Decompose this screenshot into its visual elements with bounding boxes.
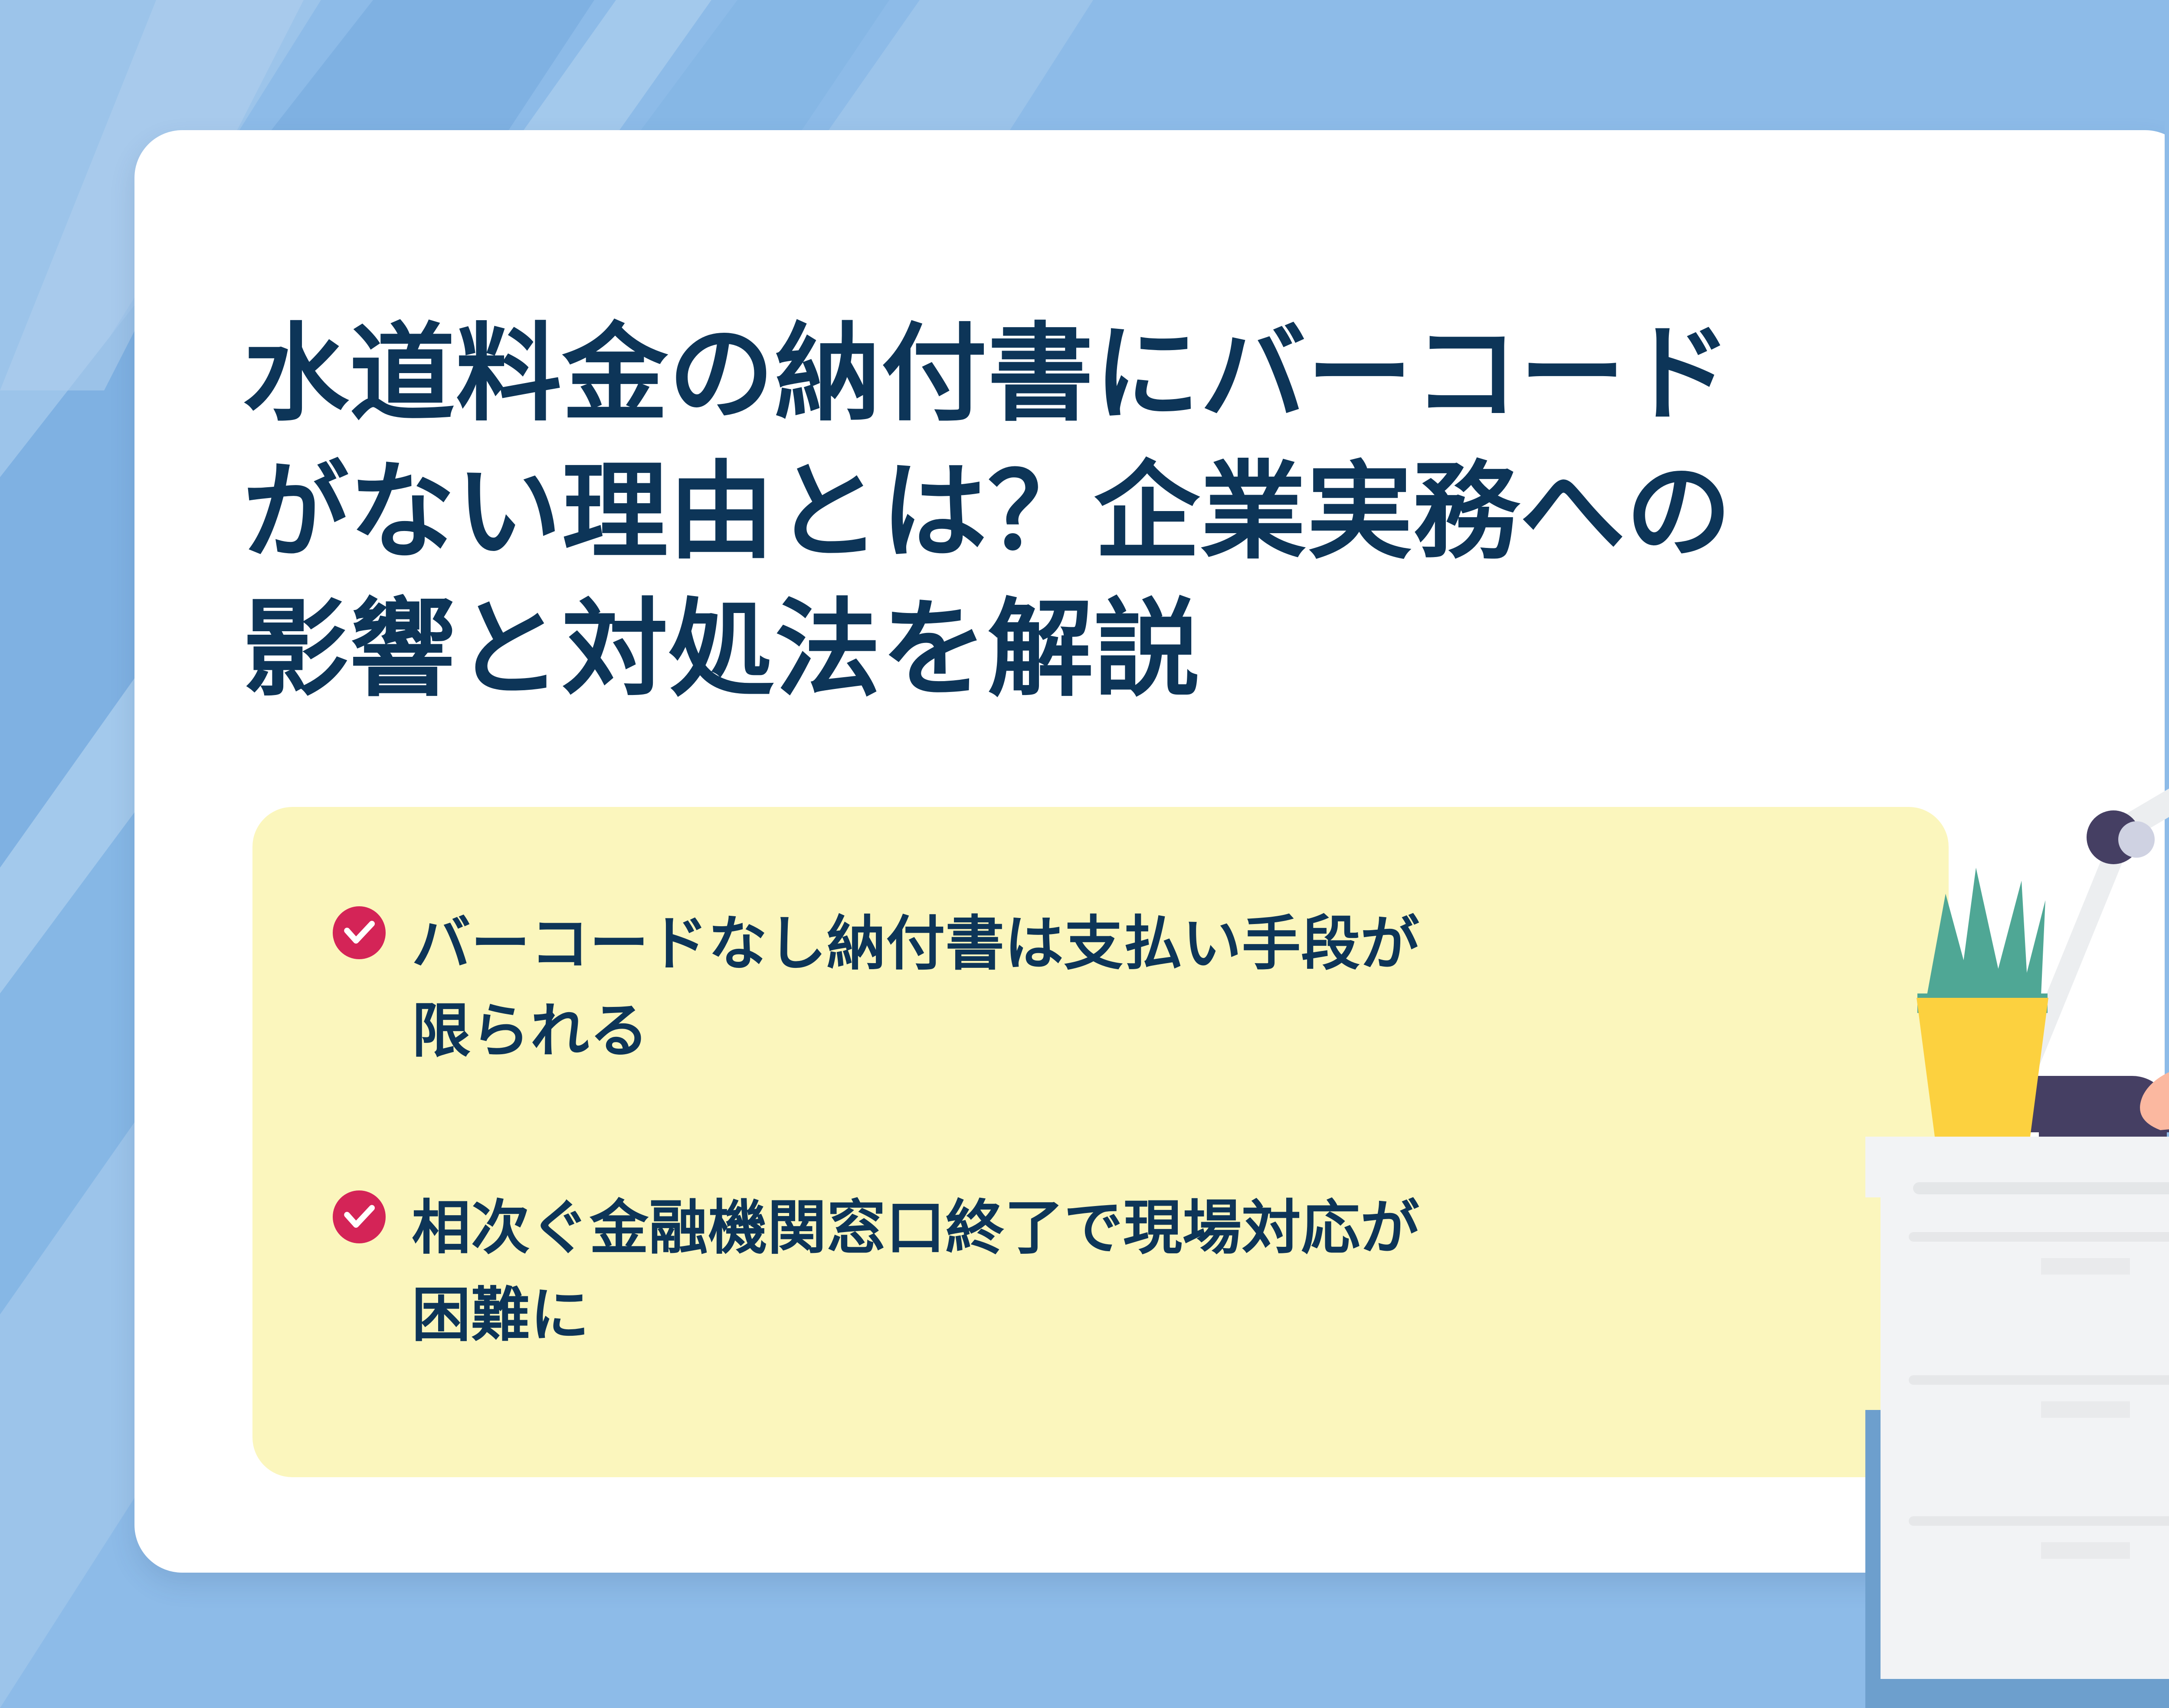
desk-edge-line [1913,1182,2169,1194]
check-circle-icon [333,1190,386,1243]
check-circle-icon [333,906,386,959]
drawer-handle-2 [2041,1401,2130,1418]
bullet-2-line-2: 困難に [412,1282,590,1348]
title-line-3: 影響と対処法を解説 [243,580,2087,718]
title-line-1: 水道料金の納付書にバーコード [243,305,2087,443]
hand-right [2140,1061,2169,1130]
drawer-divider-2 [1909,1375,2169,1385]
potted-plant [1917,868,2048,1137]
plant-pot [1917,998,2048,1137]
title-line-2: がない理由とは？企業実務への [243,443,2087,580]
bullet-text: 相次ぐ金融機関窓口終了で現場対応が 困難に [412,1184,1420,1359]
content-card: 水道料金の納付書にバーコード がない理由とは？企業実務への 影響と対処法を解説 … [134,130,2169,1573]
workspace-illustration [1865,0,2169,1708]
bullet-2-line-1: 相次ぐ金融機関窓口終了で現場対応が [412,1195,1420,1261]
plant-leaf-3 [1991,881,2028,996]
lamp-joint-cap [2118,821,2155,858]
drawer-handle-3 [2041,1542,2130,1559]
bullet-1-line-1: バーコードなし納付書は支払い手段が [412,911,1420,977]
bullet-1-line-2: 限られる [412,998,649,1064]
poster-canvas: 水道料金の納付書にバーコード がない理由とは？企業実務への 影響と対処法を解説 … [0,0,2169,1708]
drawer-cabinet [1881,1197,2169,1679]
list-item: バーコードなし納付書は支払い手段が 限られる [333,900,1864,1075]
bullet-text: バーコードなし納付書は支払い手段が 限られる [412,900,1420,1075]
drawer-handle-1 [2041,1258,2130,1275]
page-title: 水道料金の納付書にバーコード がない理由とは？企業実務への 影響と対処法を解説 [243,305,2087,718]
highlight-panel: バーコードなし納付書は支払い手段が 限られる 相次ぐ金融機関窓口終了で現場対応が… [252,807,1949,1477]
drawer-divider-3 [1909,1516,2169,1526]
drawer-divider-1 [1909,1232,2169,1242]
list-item: 相次ぐ金融機関窓口終了で現場対応が 困難に [333,1184,1864,1359]
